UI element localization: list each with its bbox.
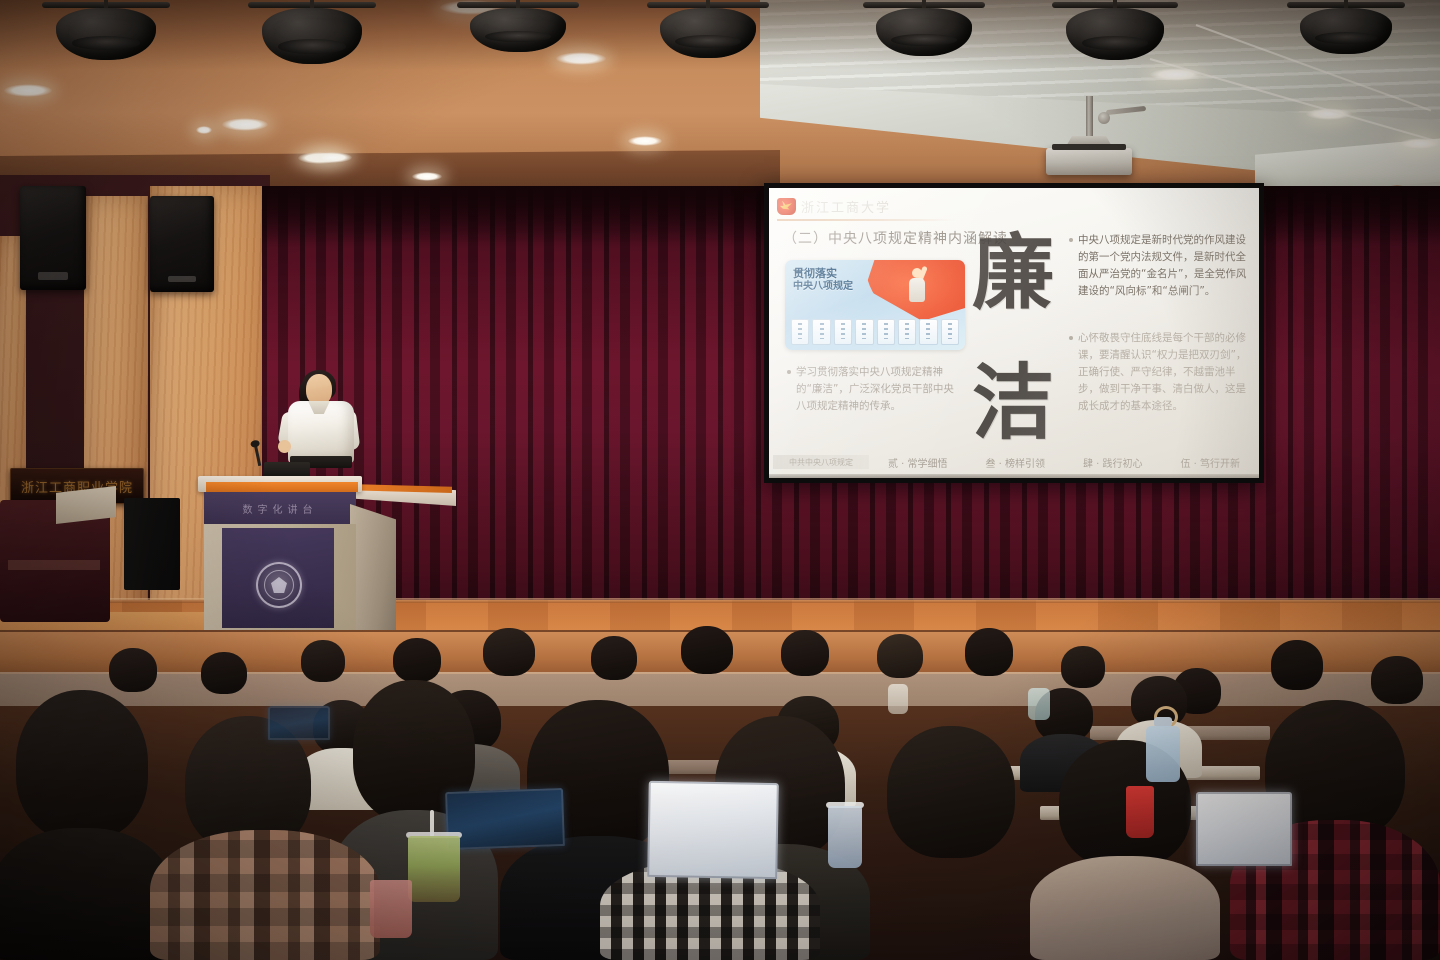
drink-cup (828, 806, 862, 868)
podium-name-text: 数字化讲台 (243, 501, 318, 516)
slide-calligraphy: 廉 洁 (965, 236, 1061, 441)
infographic-chip (941, 319, 959, 345)
audience-member (0, 690, 172, 960)
infographic-chip (877, 319, 895, 345)
stage-light-fixture (1066, 0, 1164, 52)
infographic-chip (791, 319, 809, 345)
slide-footer-item: 肆 · 践行初心 (1083, 455, 1143, 470)
infographic-chip (812, 319, 830, 345)
water-bottle (1028, 688, 1050, 720)
stage-light-fixture (56, 0, 156, 52)
audience-member (676, 626, 738, 684)
audience-head (681, 626, 733, 674)
downlight (196, 126, 212, 134)
ceiling-projector (1046, 148, 1132, 175)
audience-head (781, 630, 829, 676)
audience-member-plaid (150, 830, 380, 960)
podium-orange-accent (206, 482, 358, 492)
audience-shoulders (0, 828, 172, 960)
audience-laptop (268, 706, 330, 740)
audience-shoulders-plaid (150, 830, 380, 960)
slide-bullet-right-1: 中央八项规定是新时代党的作风建设的第一个党内法规文件，是新时代全面从严治党的“金… (1069, 232, 1251, 300)
stage-light-fixture (262, 0, 362, 56)
slide-bullet-left-text: 学习贯彻落实中央八项规定精神的“廉洁”，广泛深化党员干部中央八项规定精神的传承。 (796, 364, 959, 415)
slide-logo-bar: 浙江工商大学 (777, 194, 957, 218)
infographic-chip (855, 319, 873, 345)
stage-light-fixture (1300, 0, 1392, 46)
podium-right-side (350, 504, 396, 632)
calligraphy-char-1: 廉 (972, 236, 1054, 311)
water-bottle (888, 684, 908, 714)
audience-head (1271, 640, 1323, 690)
slide-university-name: 浙江工商大学 (801, 197, 891, 216)
drink-cup (370, 880, 412, 938)
slide-logo-rule (777, 219, 955, 221)
left-wall-speaker-upper (20, 186, 86, 290)
stage-light-fixture (470, 0, 566, 44)
bubble-tea-cup (408, 836, 460, 902)
bullet-dot-icon (1069, 238, 1073, 242)
audience-member (776, 630, 834, 686)
stage-light-fixture (876, 0, 972, 48)
audience-head (201, 652, 247, 694)
audience-member (860, 726, 1042, 960)
downlight (412, 172, 442, 181)
infographic-chip (834, 319, 852, 345)
audience-head (1371, 656, 1423, 704)
slide-footer: 中共中央八项规定 贰 · 常学细悟 叁 · 榜样引领 肆 · 践行初心 伍 · … (769, 452, 1259, 472)
audience-member (872, 634, 928, 688)
slide-bullet-right-1-text: 中央八项规定是新时代党的作风建设的第一个党内法规文件，是新时代全面从严治党的“金… (1078, 232, 1251, 300)
audience-shoulders (860, 848, 1042, 960)
audience-head (301, 640, 345, 682)
lectern-podium: 数字化讲台 (198, 470, 448, 640)
equipment-case (124, 498, 180, 590)
slide-footer-item: 叁 · 榜样引领 (985, 455, 1045, 470)
audience-shoulders (1030, 856, 1220, 960)
stage-light-fixture (660, 0, 756, 50)
left-wall-speaker-lower (150, 196, 214, 292)
audience-laptop (1196, 792, 1292, 866)
projection-screen-frame: 浙江工商大学 （二）中央八项规定精神内涵解读 贯彻落实 中央八项规定 (764, 183, 1264, 483)
bullet-dot-icon (787, 370, 791, 374)
audience-member (586, 636, 642, 690)
infographic-chip-row (791, 319, 959, 345)
audience-laptop (445, 788, 565, 850)
downlight (222, 118, 268, 131)
water-bottle (1146, 726, 1180, 782)
audience-head (877, 634, 923, 678)
slide-bullet-right-2: 心怀敬畏守住底线是每个干部的必修课，要清醒认识“权力是把双刃剑”，正确行使、严守… (1069, 330, 1251, 415)
audience-head (965, 628, 1013, 676)
lecture-hall-photo: 浙江工商职业学院 浙江工商大学 （二）中央八项规定精神内涵解读 贯彻落实 中央八… (0, 0, 1440, 960)
infographic-chip (919, 319, 937, 345)
infographic-headline-line2: 中央八项规定 (793, 280, 853, 293)
infographic-person-icon (907, 268, 927, 316)
audience-laptop (647, 781, 779, 879)
slide-footer-item: 贰 · 常学细悟 (888, 455, 948, 470)
audience-head (109, 648, 157, 692)
audience-head (1061, 646, 1105, 688)
bullet-dot-icon (1069, 336, 1073, 340)
screen-bottom-edge (769, 474, 1259, 478)
presenter-hand (278, 440, 291, 453)
university-seal-emblem (256, 562, 302, 608)
podium-name-band: 数字化讲台 (204, 492, 356, 524)
party-emblem-icon (777, 198, 796, 215)
calligraphy-char-2: 洁 (972, 366, 1054, 441)
red-tumbler (1126, 786, 1154, 838)
slide-footer-items: 贰 · 常学细悟 叁 · 榜样引领 肆 · 践行初心 伍 · 笃行开新 (869, 455, 1259, 470)
projection-screen: 浙江工商大学 （二）中央八项规定精神内涵解读 贯彻落实 中央八项规定 (769, 188, 1259, 478)
slide-footer-item: 伍 · 笃行开新 (1180, 455, 1240, 470)
slide-bullet-right-2-text: 心怀敬畏守住底线是每个干部的必修课，要清醒认识“权力是把双刃剑”，正确行使、严守… (1078, 330, 1251, 415)
infographic-headline: 贯彻落实 中央八项规定 (793, 267, 853, 293)
slide-infographic: 贯彻落实 中央八项规定 (785, 260, 965, 350)
infographic-headline-line1: 贯彻落实 (793, 267, 837, 280)
projector-arm-joint (1098, 112, 1110, 124)
audience-member (1030, 740, 1220, 960)
downlight (4, 84, 52, 97)
audience-member (196, 652, 252, 706)
downlight (312, 152, 352, 163)
audience-head (16, 690, 148, 840)
infographic-chip (898, 319, 916, 345)
audience-member (960, 628, 1018, 686)
slide-bullet-left: 学习贯彻落实中央八项规定精神的“廉洁”，广泛深化党员干部中央八项规定精神的传承。 (787, 364, 959, 415)
audience-head (887, 726, 1015, 858)
slide-footer-tag: 中共中央八项规定 (773, 455, 869, 469)
audience-head (483, 628, 535, 676)
audience-head (591, 636, 637, 680)
downlight (628, 136, 662, 146)
audience-head (393, 638, 441, 682)
audience-member (1266, 640, 1328, 700)
audience-member (478, 628, 540, 686)
